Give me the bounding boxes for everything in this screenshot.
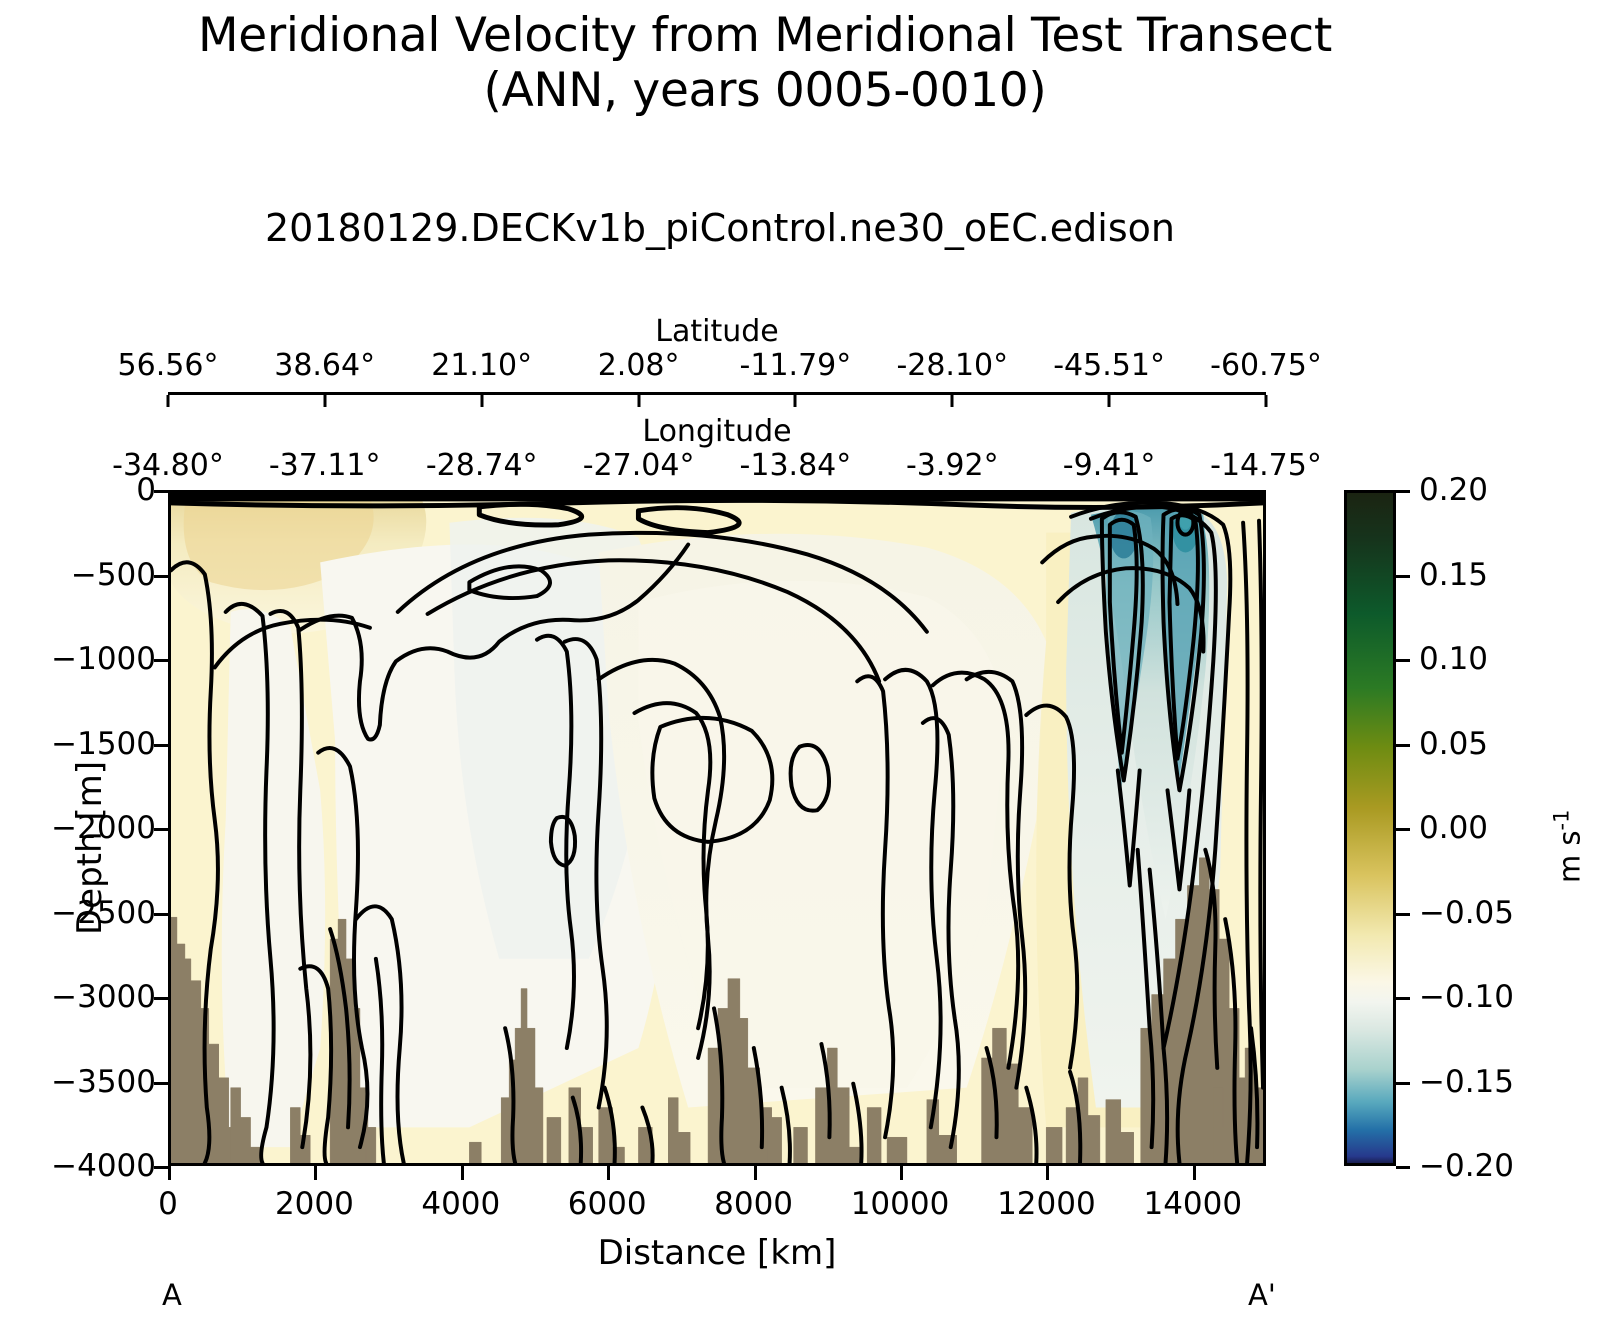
- tick-label: −4000: [51, 1148, 156, 1184]
- axis-tick: [1265, 395, 1268, 407]
- tick-label: 21.10°: [431, 348, 532, 383]
- transect-plot-area[interactable]: [168, 490, 1266, 1166]
- axis-tick: [754, 1166, 757, 1180]
- run-name-subtitle: 20180129.DECKv1b_piControl.ne30_oEC.edis…: [0, 206, 1440, 250]
- transect-start-marker: A: [162, 1278, 182, 1312]
- axis-tick: [637, 395, 640, 407]
- axis-tick: [323, 395, 326, 407]
- tick-label: 14000: [1143, 1186, 1242, 1222]
- tick-label: 12000: [997, 1186, 1096, 1222]
- colorbar[interactable]: [1344, 490, 1396, 1166]
- colorbar-tick: [1396, 744, 1410, 747]
- longitude-axis-title: Longitude: [168, 414, 1266, 449]
- tick-label: 0: [136, 472, 156, 508]
- axis-tick: [1046, 1166, 1049, 1180]
- tick-label: -9.41°: [1063, 448, 1156, 483]
- tick-label: 2000: [275, 1186, 354, 1222]
- axis-tick: [154, 575, 168, 578]
- axis-tick: [154, 913, 168, 916]
- axis-tick: [607, 1166, 610, 1180]
- longitude-tick-labels: -34.80°-37.11°-28.74°-27.04°-13.84°-3.92…: [168, 448, 1266, 482]
- tick-label: -3.92°: [906, 448, 999, 483]
- tick-label: 0: [158, 1186, 178, 1222]
- colorbar-tick: [1396, 828, 1410, 831]
- tick-label: 56.56°: [118, 348, 219, 383]
- axis-tick: [461, 1166, 464, 1180]
- axis-tick: [167, 395, 170, 407]
- colorbar-tick: [1396, 575, 1410, 578]
- axis-tick: [154, 659, 168, 662]
- colorbar-tick: [1396, 1166, 1410, 1169]
- latitude-axis-spine: [168, 392, 1266, 409]
- tick-label: -60.75°: [1210, 348, 1322, 383]
- tick-label: 10000: [851, 1186, 950, 1222]
- axis-tick: [154, 744, 168, 747]
- axis-tick: [480, 395, 483, 407]
- colorbar-tick: [1396, 490, 1410, 493]
- colorbar-tick: [1396, 1082, 1410, 1085]
- page-title: Meridional Velocity from Meridional Test…: [0, 8, 1530, 119]
- tick-label: -28.10°: [896, 348, 1008, 383]
- axis-tick: [951, 395, 954, 407]
- figure-canvas: Meridional Velocity from Meridional Test…: [0, 0, 1615, 1332]
- tick-label: 2.08°: [598, 348, 680, 383]
- tick-label: −500: [71, 557, 156, 593]
- colorbar-tick-label: 0.10: [1419, 641, 1488, 677]
- tick-label: 6000: [568, 1186, 647, 1222]
- colorbar-tick: [1396, 997, 1410, 1000]
- axis-tick: [1108, 395, 1111, 407]
- latitude-tick-labels: 56.56°38.64°21.10°2.08°-11.79°-28.10°-45…: [168, 348, 1266, 382]
- colorbar-tick: [1396, 659, 1410, 662]
- distance-axis-title: Distance [km]: [168, 1233, 1266, 1273]
- tick-label: −3500: [51, 1064, 156, 1100]
- colorbar-tick-label: −0.20: [1419, 1148, 1514, 1184]
- colorbar-tick-label: 0.15: [1419, 557, 1488, 593]
- transect-end-marker: A': [1248, 1278, 1276, 1312]
- axis-tick: [154, 1166, 168, 1169]
- axis-tick: [154, 997, 168, 1000]
- tick-label: -28.74°: [426, 448, 538, 483]
- tick-label: -34.80°: [112, 448, 224, 483]
- colorbar-tick-label: −0.15: [1419, 1064, 1514, 1100]
- tick-label: -27.04°: [583, 448, 695, 483]
- axis-tick: [1193, 1166, 1196, 1180]
- unit-mantissa: m s: [1552, 830, 1586, 883]
- depth-axis-title: Depth [m]: [70, 698, 110, 998]
- transect-contour-image: [171, 493, 1263, 1163]
- colorbar-tick-label: −0.10: [1419, 979, 1514, 1015]
- colorbar-tick-label: 0.20: [1419, 472, 1488, 508]
- colorbar-tick-label: −0.05: [1419, 895, 1514, 931]
- colorbar-tick-label: 0.00: [1419, 810, 1488, 846]
- tick-label: 8000: [714, 1186, 793, 1222]
- tick-label: -11.79°: [740, 348, 852, 383]
- axis-tick: [794, 395, 797, 407]
- axis-tick: [154, 1082, 168, 1085]
- tick-label: -37.11°: [269, 448, 381, 483]
- tick-label: -13.84°: [740, 448, 852, 483]
- tick-label: −1000: [51, 641, 156, 677]
- tick-label: 4000: [421, 1186, 500, 1222]
- latitude-axis-title: Latitude: [168, 314, 1266, 349]
- axis-tick: [168, 1166, 171, 1180]
- colorbar-tick: [1396, 913, 1410, 916]
- unit-exponent: -1: [1550, 810, 1574, 831]
- tick-label: -14.75°: [1210, 448, 1322, 483]
- axis-tick: [154, 490, 168, 493]
- colorbar-tick-label: 0.05: [1419, 726, 1488, 762]
- tick-label: -45.51°: [1053, 348, 1165, 383]
- axis-tick: [314, 1166, 317, 1180]
- axis-tick: [154, 828, 168, 831]
- tick-label: 38.64°: [274, 348, 375, 383]
- axis-tick: [900, 1166, 903, 1180]
- colorbar-unit-label: m s-1: [1550, 726, 1587, 966]
